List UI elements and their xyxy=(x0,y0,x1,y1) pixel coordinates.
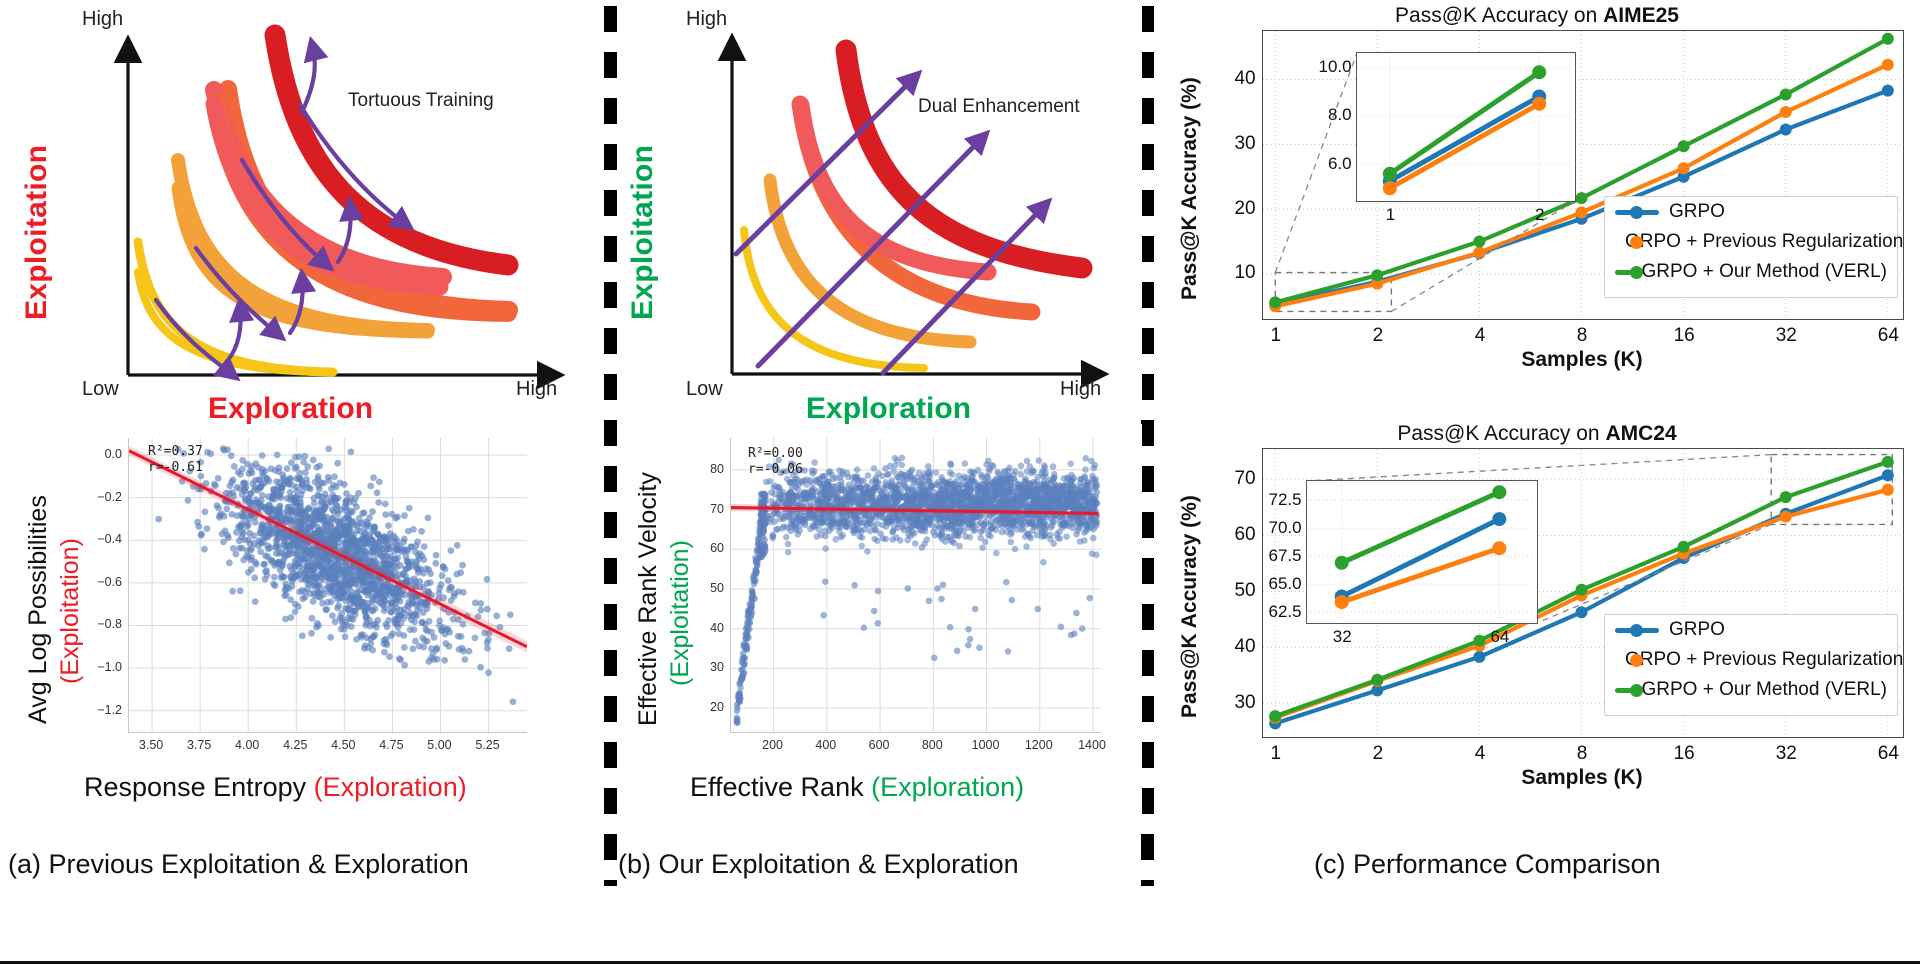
legend-line-icon-grpo xyxy=(1615,628,1659,633)
scatter-a-x-tick: 4.00 xyxy=(223,738,271,752)
chart-aime25: Pass@K Accuracy on AIME25 10203040 12481… xyxy=(1154,0,1920,430)
scatter-a-x-tick: 5.25 xyxy=(464,738,512,752)
concept-b-y-high-label: High xyxy=(686,8,727,31)
chart-amc24-x-tick: 16 xyxy=(1654,743,1714,765)
concept-diagram-previous: High Low High Exploitation Exploration T… xyxy=(0,0,604,420)
panel-c-caption: (c) Performance Comparison xyxy=(1314,849,1661,880)
scatter-b-r-squared: R²=0.00 xyxy=(748,446,803,461)
panel-b-caption: (b) Our Exploitation & Exploration xyxy=(618,849,1019,880)
chart-amc24-y-axis-title: Pass@K Accuracy (%) xyxy=(1178,495,1202,718)
chart-amc24-x-tick: 32 xyxy=(1756,743,1816,765)
scatter-b-y-tick: 50 xyxy=(690,581,724,595)
scatter-b-x-tick: 200 xyxy=(749,738,797,752)
chart-aime25-x-axis-title: Samples (K) xyxy=(1262,348,1902,372)
scatter-a-x-axis-title-accent: (Exploration) xyxy=(314,772,467,802)
chart-aime25-x-tick: 8 xyxy=(1552,325,1612,347)
scatter-b-x-axis-title-black: Effective Rank xyxy=(690,772,871,802)
concept-a-y-low-label: Low xyxy=(82,378,119,401)
chart-amc24-inset-y-tick: 67.5 xyxy=(1248,546,1302,566)
legend-label-grpo: GRPO xyxy=(1669,201,1725,223)
scatter-b-y-tick: 20 xyxy=(690,700,724,714)
chart-aime25-x-tick: 2 xyxy=(1348,325,1408,347)
scatter-a-x-tick: 5.00 xyxy=(415,738,463,752)
scatter-b-y-tick: 60 xyxy=(690,541,724,555)
scatter-plot-ours: R²=0.00 r=-0.06 20304050607080 200400600… xyxy=(618,424,1142,824)
scatter-a-y-tick: −0.8 xyxy=(80,617,122,631)
concept-a-annotation: Tortuous Training xyxy=(348,90,494,112)
chart-amc24-inset-x-tick: 32 xyxy=(1316,627,1368,647)
legend-label-prev-reg: GRPO + Previous Regularization xyxy=(1625,649,1903,671)
concept-diagram-ours: High Low High Exploitation Exploration D… xyxy=(618,0,1142,420)
chart-amc24-title: Pass@K Accuracy on AMC24 xyxy=(1154,422,1920,446)
concept-a-x-axis-title: Exploration xyxy=(208,392,373,426)
scatter-b-y-tick: 40 xyxy=(690,621,724,635)
panel-c: Pass@K Accuracy on AIME25 10203040 12481… xyxy=(1154,0,1920,890)
chart-aime25-inset-x-tick: 1 xyxy=(1364,205,1416,225)
legend-item-grpo[interactable]: GRPO xyxy=(1605,615,1897,645)
concept-b-annotation: Dual Enhancement xyxy=(918,96,1080,118)
chart-amc24-inset xyxy=(1306,480,1538,624)
scatter-a-y-tick: 0.0 xyxy=(80,447,122,461)
chart-amc24: Pass@K Accuracy on AMC24 3040506070 1248… xyxy=(1154,418,1920,848)
chart-amc24-title-prefix: Pass@K Accuracy on xyxy=(1397,422,1605,445)
legend-item-our-method[interactable]: GRPO + Our Method (VERL) xyxy=(1605,675,1897,705)
chart-aime25-title: Pass@K Accuracy on AIME25 xyxy=(1154,4,1920,28)
legend-label-our-method: GRPO + Our Method (VERL) xyxy=(1642,261,1888,283)
chart-amc24-x-tick: 4 xyxy=(1450,743,1510,765)
chart-aime25-x-tick: 4 xyxy=(1450,325,1510,347)
chart-aime25-title-bold: AIME25 xyxy=(1603,4,1679,27)
chart-aime25-y-tick: 20 xyxy=(1200,198,1256,220)
concept-b-y-low-label: Low xyxy=(686,378,723,401)
scatter-b-x-axis-title-accent: (Exploration) xyxy=(871,772,1024,802)
legend-item-prev-reg[interactable]: GRPO + Previous Regularization xyxy=(1605,645,1897,675)
legend-label-prev-reg: GRPO + Previous Regularization xyxy=(1625,231,1903,253)
scatter-a-y-tick: −1.0 xyxy=(80,660,122,674)
scatter-a-x-axis-title: Response Entropy (Exploration) xyxy=(84,772,467,803)
chart-aime25-inset xyxy=(1356,52,1576,202)
panel-divider-b-c xyxy=(1141,6,1154,886)
chart-amc24-x-tick: 2 xyxy=(1348,743,1408,765)
scatter-a-y-tick: −0.4 xyxy=(80,532,122,546)
chart-amc24-title-bold: AMC24 xyxy=(1605,422,1676,445)
concept-b-x-high-label: High xyxy=(1060,378,1101,401)
scatter-b-plot-area xyxy=(730,438,1101,733)
chart-aime25-x-tick: 16 xyxy=(1654,325,1714,347)
scatter-a-x-tick: 4.50 xyxy=(319,738,367,752)
chart-amc24-x-tick: 1 xyxy=(1246,743,1306,765)
scatter-a-x-tick: 3.50 xyxy=(127,738,175,752)
chart-amc24-y-tick: 40 xyxy=(1200,636,1256,658)
chart-amc24-x-tick: 8 xyxy=(1552,743,1612,765)
scatter-b-y-tick: 70 xyxy=(690,502,724,516)
scatter-b-y-tick: 30 xyxy=(690,660,724,674)
chart-aime25-y-tick: 30 xyxy=(1200,133,1256,155)
chart-amc24-inset-y-tick: 72.5 xyxy=(1248,490,1302,510)
scatter-a-x-tick: 4.75 xyxy=(367,738,415,752)
scatter-b-x-tick: 1400 xyxy=(1068,738,1116,752)
chart-aime25-y-axis-title: Pass@K Accuracy (%) xyxy=(1178,77,1202,300)
chart-aime25-inset-y-tick: 8.0 xyxy=(1298,105,1352,125)
chart-amc24-x-axis-title: Samples (K) xyxy=(1262,766,1902,790)
chart-amc24-y-tick: 30 xyxy=(1200,692,1256,714)
legend-item-prev-reg[interactable]: GRPO + Previous Regularization xyxy=(1605,227,1897,257)
chart-aime25-x-tick: 64 xyxy=(1858,325,1918,347)
scatter-a-y-tick: −1.2 xyxy=(80,703,122,717)
chart-amc24-legend: GRPO GRPO + Previous Regularization GRPO… xyxy=(1604,614,1898,716)
chart-amc24-inset-y-tick: 62.5 xyxy=(1248,602,1302,622)
legend-line-icon-our-method xyxy=(1615,270,1632,275)
panel-a: High Low High Exploitation Exploration T… xyxy=(0,0,604,890)
legend-line-icon-grpo xyxy=(1615,210,1659,215)
panel-b: High Low High Exploitation Exploration D… xyxy=(618,0,1142,890)
scatter-b-x-tick: 600 xyxy=(855,738,903,752)
scatter-a-y-tick: −0.2 xyxy=(80,490,122,504)
panel-a-caption: (a) Previous Exploitation & Exploration xyxy=(8,849,469,880)
chart-aime25-inset-y-tick: 10.0 xyxy=(1298,57,1352,77)
panel-divider-a-b xyxy=(604,6,617,886)
chart-aime25-x-tick: 1 xyxy=(1246,325,1306,347)
chart-aime25-inset-y-tick: 6.0 xyxy=(1298,154,1352,174)
concept-b-y-axis-title: Exploitation xyxy=(626,145,660,320)
chart-aime25-x-tick: 32 xyxy=(1756,325,1816,347)
scatter-b-y-axis-title-accent: (Exploitation) xyxy=(666,540,695,686)
chart-aime25-legend: GRPO GRPO + Previous Regularization GRPO… xyxy=(1604,196,1898,298)
scatter-b-x-tick: 1200 xyxy=(1015,738,1063,752)
legend-item-grpo[interactable]: GRPO xyxy=(1605,197,1897,227)
chart-amc24-y-tick: 70 xyxy=(1200,468,1256,490)
scatter-a-x-tick: 3.75 xyxy=(175,738,223,752)
scatter-b-x-tick: 1000 xyxy=(962,738,1010,752)
scatter-plot-previous: R²=0.37 r=-0.61 0.0−0.2−0.4−0.6−0.8−1.0−… xyxy=(0,424,604,824)
chart-aime25-y-tick: 40 xyxy=(1200,68,1256,90)
scatter-a-r-squared: R²=0.37 xyxy=(148,444,203,459)
chart-amc24-inset-y-tick: 70.0 xyxy=(1248,518,1302,538)
chart-amc24-inset-y-tick: 65.0 xyxy=(1248,574,1302,594)
legend-item-our-method[interactable]: GRPO + Our Method (VERL) xyxy=(1605,257,1897,287)
concept-a-x-high-label: High xyxy=(516,378,557,401)
concept-a-y-axis-title: Exploitation xyxy=(20,145,54,320)
scatter-b-y-axis-title-black: Effective Rank Velocity xyxy=(634,472,663,726)
concept-b-x-axis-title: Exploration xyxy=(806,392,971,426)
scatter-a-y-axis-title-accent: (Exploitation) xyxy=(56,538,85,684)
legend-label-our-method: GRPO + Our Method (VERL) xyxy=(1642,679,1888,701)
scatter-a-plot-area xyxy=(128,438,527,733)
scatter-b-y-tick: 80 xyxy=(690,462,724,476)
scatter-a-r-value: r=-0.61 xyxy=(148,460,203,475)
figure-root: High Low High Exploitation Exploration T… xyxy=(0,0,1920,964)
scatter-b-x-axis-title: Effective Rank (Exploration) xyxy=(690,772,1024,803)
chart-amc24-x-tick: 64 xyxy=(1858,743,1918,765)
chart-aime25-title-prefix: Pass@K Accuracy on xyxy=(1395,4,1603,27)
scatter-b-x-tick: 400 xyxy=(802,738,850,752)
scatter-a-x-tick: 4.25 xyxy=(271,738,319,752)
chart-aime25-inset-x-tick: 2 xyxy=(1514,205,1566,225)
chart-amc24-inset-x-tick: 64 xyxy=(1474,627,1526,647)
scatter-b-r-value: r=-0.06 xyxy=(748,462,803,477)
scatter-a-y-axis-title-black: Avg Log Possibilities xyxy=(24,495,53,724)
concept-a-y-high-label: High xyxy=(82,8,123,31)
scatter-b-x-tick: 800 xyxy=(908,738,956,752)
scatter-a-x-axis-title-black: Response Entropy xyxy=(84,772,314,802)
scatter-a-y-tick: −0.6 xyxy=(80,575,122,589)
legend-label-grpo: GRPO xyxy=(1669,619,1725,641)
legend-line-icon-our-method xyxy=(1615,688,1632,693)
chart-aime25-y-tick: 10 xyxy=(1200,262,1256,284)
